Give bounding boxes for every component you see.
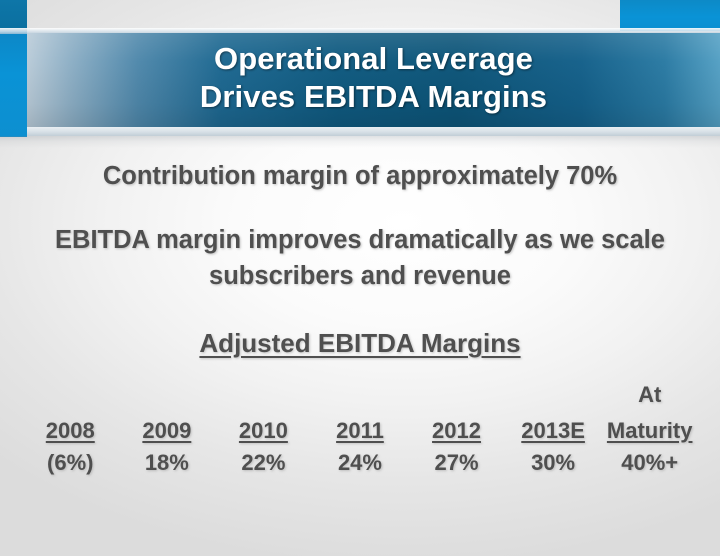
column-header-2010-label: 2010: [239, 418, 288, 443]
column-header-2009: 2009: [119, 408, 216, 444]
table-superheader-row: At: [22, 374, 698, 408]
superheader-cell-1: [22, 374, 119, 408]
superheader-cell-6: [505, 374, 602, 408]
accent-block-left-bottom: [0, 31, 27, 137]
superheader-cell-2: [119, 374, 216, 408]
accent-block-top-right: [620, 0, 720, 31]
superheader-cell-3: [215, 374, 312, 408]
superheader-cell-4: [312, 374, 409, 408]
bullet-ebitda-margin: EBITDA margin improves dramatically as w…: [10, 222, 710, 294]
column-header-maturity: Maturity: [601, 408, 698, 444]
section-heading-adjusted-ebitda-margins: Adjusted EBITDA Margins: [10, 328, 710, 359]
bullet-contribution-margin: Contribution margin of approximately 70%: [10, 160, 710, 192]
value-cell-2009: 18%: [119, 444, 216, 482]
slide-body: Contribution margin of approximately 70%…: [0, 140, 720, 556]
value-cell-2010: 22%: [215, 444, 312, 482]
value-cell-2008: (6%): [22, 444, 119, 482]
value-cell-2011: 24%: [312, 444, 409, 482]
slide-title: Operational Leverage Drives EBITDA Margi…: [27, 40, 720, 116]
column-header-2009-label: 2009: [142, 418, 191, 443]
column-header-2012-label: 2012: [432, 418, 481, 443]
adjusted-ebitda-margins-table: At 2008 2009 2010 2011 2012 2013E Maturi…: [22, 374, 698, 482]
superheader-cell-5: [408, 374, 505, 408]
column-header-2008-label: 2008: [46, 418, 95, 443]
table-header-row: 2008 2009 2010 2011 2012 2013E Maturity: [22, 408, 698, 444]
value-cell-maturity: 40%+: [601, 444, 698, 482]
column-header-2011: 2011: [312, 408, 409, 444]
table-value-row: (6%) 18% 22% 24% 27% 30% 40%+: [22, 444, 698, 482]
column-header-2010: 2010: [215, 408, 312, 444]
accent-block-left-top: [0, 0, 27, 31]
value-cell-2012: 27%: [408, 444, 505, 482]
value-cell-2013e: 30%: [505, 444, 602, 482]
column-header-2013e-label: 2013E: [521, 418, 585, 443]
column-header-2008: 2008: [22, 408, 119, 444]
banner-under-bar: [27, 127, 720, 136]
superheader-cell-at: At: [601, 374, 698, 408]
column-header-maturity-label: Maturity: [607, 418, 693, 443]
column-header-2011-label: 2011: [336, 418, 384, 443]
slide: Operational Leverage Drives EBITDA Margi…: [0, 0, 720, 556]
column-header-2013e: 2013E: [505, 408, 602, 444]
column-header-2012: 2012: [408, 408, 505, 444]
title-banner: Operational Leverage Drives EBITDA Margi…: [0, 0, 720, 140]
